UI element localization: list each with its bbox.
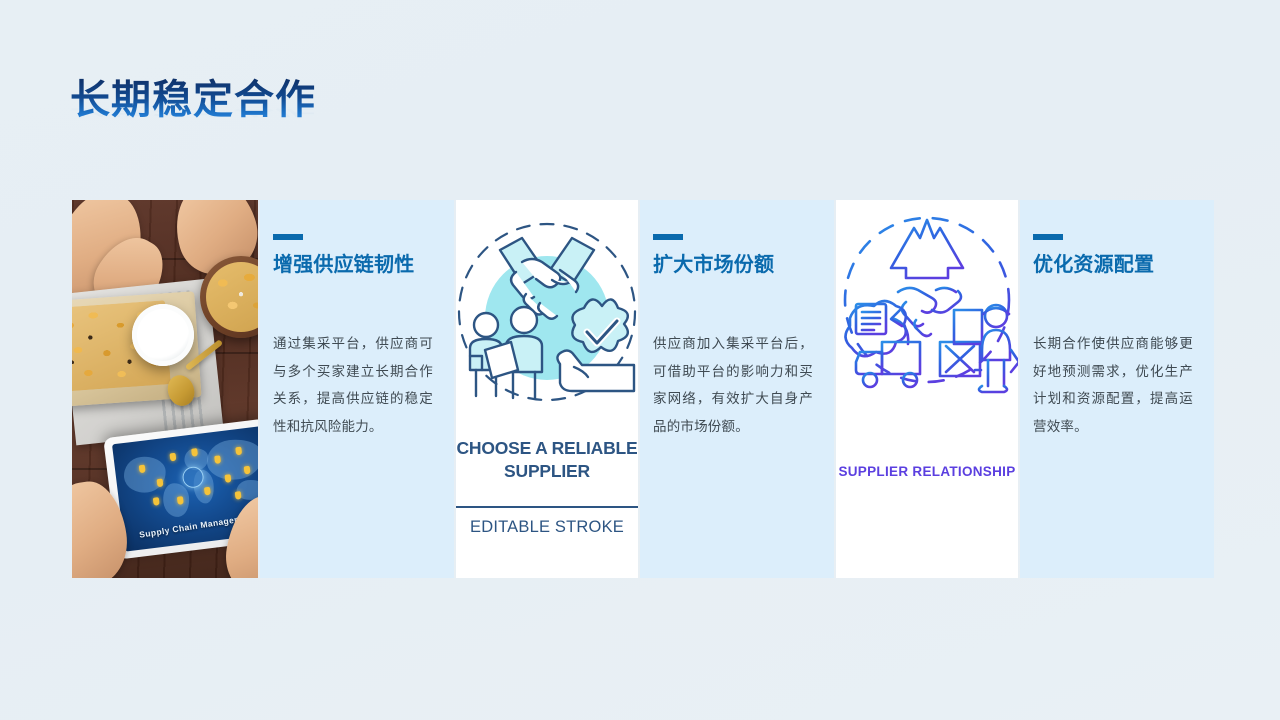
network-node [244,466,251,475]
network-node [139,465,146,474]
map-continent [161,482,191,519]
network-node [153,497,160,506]
content-band: Supply Chain Management 增强供应链韧性 通过集采平台，供… [72,200,1208,578]
icon-divider [456,506,638,508]
panel-heading: 扩大市场份额 [653,252,817,280]
map-continent [205,436,258,483]
panel-supply-chain-photo: Supply Chain Management [72,200,258,578]
panel-supplier-relationship: SUPPLIER RELATIONSHIP [836,200,1018,578]
panel-body: 通过集采平台，供应商可与多个买家建立长期合作关系，提高供应链的稳定性和抗风险能力… [273,330,433,441]
icon-sub-caption: EDITABLE STROKE [456,518,638,537]
panel-heading: 增强供应链韧性 [273,252,437,280]
panel-body: 供应商加入集采平台后，可借助平台的影响力和买家网络，有效扩大自身产品的市场份额。 [653,330,813,441]
network-node [204,487,211,496]
page-title: 长期稳定合作 [70,77,316,123]
panel-supply-chain-resilience: 增强供应链韧性 通过集采平台，供应商可与多个买家建立长期合作关系，提高供应链的稳… [260,200,454,578]
network-node [177,496,184,505]
panel-heading: 优化资源配置 [1033,252,1197,280]
accent-bar [273,234,303,240]
icon-caption: CHOOSE A RELIABLE SUPPLIER [450,437,644,483]
accent-bar [653,234,683,240]
panel-choose-reliable-supplier: CHOOSE A RELIABLE SUPPLIER EDITABLE STRO… [456,200,638,578]
milk-bowl [132,304,194,366]
network-node [214,455,221,464]
network-node [170,453,177,462]
accent-bar [1033,234,1063,240]
map-continent [122,454,168,495]
panel-expand-market-share: 扩大市场份额 供应商加入集采平台后，可借助平台的影响力和买家网络，有效扩大自身产… [640,200,834,578]
supplier-relationship-icon [836,200,1018,450]
panel-optimize-resource-allocation: 优化资源配置 长期合作使供应商能够更好地预测需求，优化生产计划和资源配置，提高运… [1020,200,1214,578]
network-node [235,447,242,456]
panel-body: 长期合作使供应商能够更好地预测需求，优化生产计划和资源配置，提高运营效率。 [1033,330,1193,441]
network-node [225,474,232,483]
network-node [191,448,198,457]
choose-reliable-supplier-icon [456,200,638,432]
cereal-bowl-contents [206,262,258,332]
network-node [157,479,164,488]
network-node [235,491,242,500]
icon-caption: SUPPLIER RELATIONSHIP [836,462,1018,482]
